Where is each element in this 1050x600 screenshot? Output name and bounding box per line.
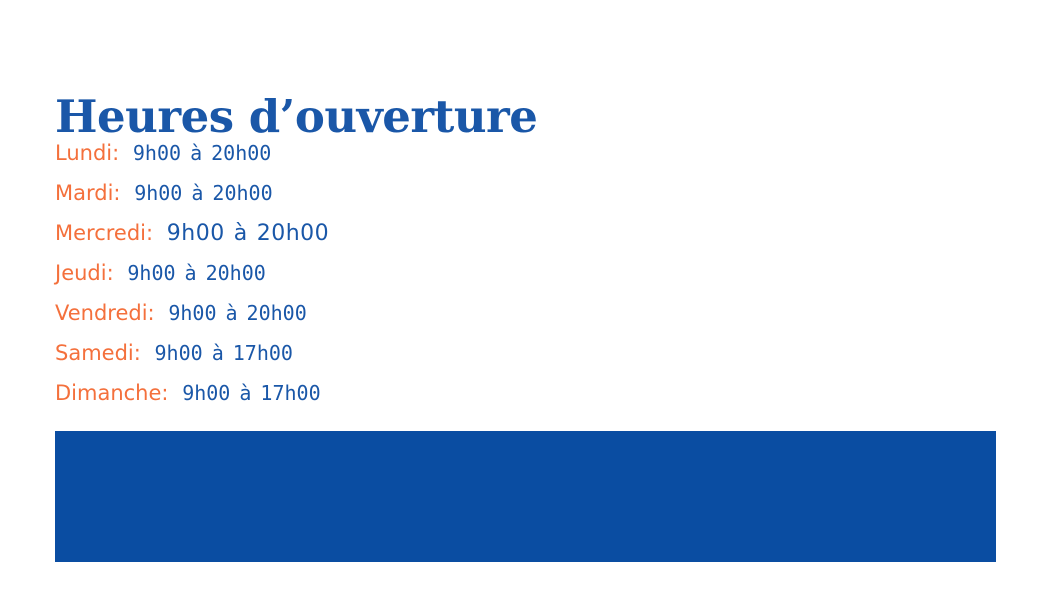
day-label: Vendredi: bbox=[55, 301, 155, 325]
hours-row: Vendredi: 9h00à20h00 bbox=[55, 293, 755, 333]
time-separator: à bbox=[191, 181, 203, 205]
hours-row: Mardi: 9h00à20h00 bbox=[55, 173, 755, 213]
day-hours: 9h00à17h00 bbox=[182, 381, 320, 405]
time-separator: à bbox=[239, 381, 251, 405]
open-time: 9h00 bbox=[182, 381, 230, 405]
hours-row: Dimanche: 9h00à17h00 bbox=[55, 373, 755, 413]
day-label: Dimanche: bbox=[55, 381, 169, 405]
banner-bar bbox=[55, 431, 996, 562]
close-time: 20h00 bbox=[247, 301, 307, 325]
close-time: 20h00 bbox=[257, 221, 329, 246]
day-label: Mardi: bbox=[55, 181, 121, 205]
day-hours: 9h00à20h00 bbox=[168, 301, 306, 325]
open-time: 9h00 bbox=[167, 221, 225, 246]
hours-row: Mercredi: 9h00à20h00 bbox=[55, 213, 755, 253]
close-time: 17h00 bbox=[260, 381, 320, 405]
close-time: 20h00 bbox=[211, 141, 271, 165]
close-time: 20h00 bbox=[212, 181, 272, 205]
time-separator: à bbox=[226, 301, 238, 325]
hours-row: Samedi: 9h00à17h00 bbox=[55, 333, 755, 373]
open-time: 9h00 bbox=[168, 301, 216, 325]
open-time: 9h00 bbox=[133, 141, 181, 165]
hours-row: Jeudi: 9h00à20h00 bbox=[55, 253, 755, 293]
day-label: Jeudi: bbox=[55, 261, 114, 285]
hours-row: Lundi: 9h00à20h00 bbox=[55, 133, 755, 173]
time-separator: à bbox=[212, 341, 224, 365]
day-label: Samedi: bbox=[55, 341, 141, 365]
day-label: Lundi: bbox=[55, 141, 119, 165]
day-label: Mercredi: bbox=[55, 221, 153, 245]
open-time: 9h00 bbox=[155, 341, 203, 365]
day-hours: 9h00à20h00 bbox=[134, 181, 272, 205]
time-separator: à bbox=[190, 141, 202, 165]
close-time: 17h00 bbox=[233, 341, 293, 365]
time-separator: à bbox=[234, 221, 248, 246]
time-separator: à bbox=[185, 261, 197, 285]
open-time: 9h00 bbox=[134, 181, 182, 205]
opening-hours-list: Lundi: 9h00à20h00 Mardi: 9h00à20h00 Merc… bbox=[55, 133, 755, 413]
slide-canvas: Heures d’ouverture Lundi: 9h00à20h00 Mar… bbox=[0, 0, 1050, 600]
day-hours: 9h00à20h00 bbox=[133, 141, 271, 165]
close-time: 20h00 bbox=[206, 261, 266, 285]
day-hours: 9h00à20h00 bbox=[167, 221, 329, 246]
day-hours: 9h00à20h00 bbox=[127, 261, 265, 285]
day-hours: 9h00à17h00 bbox=[155, 341, 293, 365]
open-time: 9h00 bbox=[127, 261, 175, 285]
